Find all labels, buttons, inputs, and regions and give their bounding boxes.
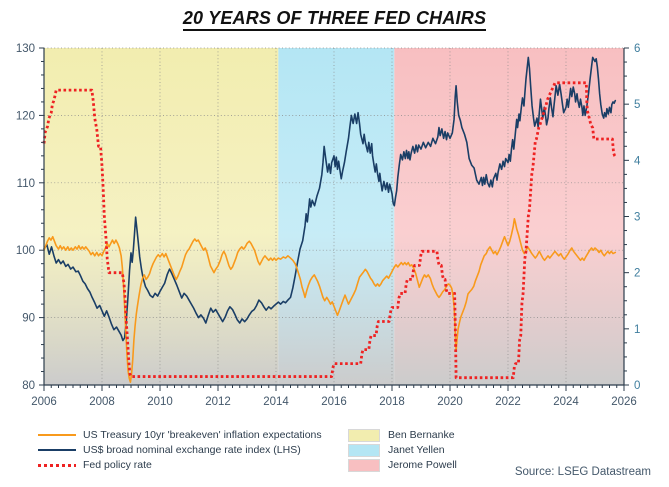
legend-swatch-solid-line [38, 449, 76, 451]
legend-item-series: Fed policy rate [38, 458, 322, 472]
band-janet-yellen [278, 48, 394, 385]
x-axis-tick-label: 2012 [205, 396, 231, 408]
legend-swatch-dotted-line [38, 464, 76, 467]
legend-item-band: Jerome Powell [348, 458, 457, 472]
legend-item-band: Ben Bernanke [348, 428, 457, 442]
x-axis-tick-label: 2008 [89, 396, 115, 408]
y-axis-left-tick-label: 130 [16, 43, 35, 55]
legend-label: Fed policy rate [83, 459, 152, 471]
legend-label: Jerome Powell [388, 459, 457, 471]
legend-swatch-band [348, 429, 380, 442]
y-axis-right-tick-label: 6 [634, 43, 640, 55]
y-axis-right-tick-label: 5 [634, 99, 640, 111]
legend-swatch-band [348, 459, 380, 472]
x-axis-tick-label: 2026 [611, 396, 637, 408]
legend-label: Janet Yellen [388, 444, 445, 456]
legend-item-band: Janet Yellen [348, 443, 457, 457]
chart-page: 20 YEARS OF THREE FED CHAIRS 80901001101… [0, 0, 669, 487]
y-axis-right-tick-label: 3 [634, 212, 640, 224]
y-axis-left-tick-label: 100 [16, 245, 35, 257]
x-axis-tick-label: 2018 [379, 396, 405, 408]
legend-item-series: US Treasury 10yr 'breakeven' inflation e… [38, 428, 322, 442]
legend-swatch-band [348, 444, 380, 457]
y-axis-left-tick-label: 80 [22, 380, 35, 392]
source-attribution: Source: LSEG Datastream [515, 466, 651, 478]
band-ben-bernanke [44, 48, 278, 385]
chart-plot-area: 8090100110120130012345620062008201020122… [0, 40, 669, 420]
y-axis-left-tick-label: 90 [22, 313, 35, 325]
band-jerome-powell [394, 48, 624, 385]
legend-label: US Treasury 10yr 'breakeven' inflation e… [83, 429, 322, 441]
x-axis-tick-label: 2020 [437, 396, 463, 408]
x-axis-tick-label: 2006 [31, 396, 57, 408]
chart-svg: 8090100110120130012345620062008201020122… [0, 40, 669, 420]
legend-series-column: US Treasury 10yr 'breakeven' inflation e… [38, 428, 322, 473]
chart-title-text: 20 YEARS OF THREE FED CHAIRS [183, 8, 486, 31]
legend-label: Ben Bernanke [388, 429, 455, 441]
y-axis-right-tick-label: 1 [634, 324, 640, 336]
x-axis-tick-label: 2014 [263, 396, 289, 408]
y-axis-right-tick-label: 4 [634, 155, 641, 167]
y-axis-right-tick-label: 0 [634, 380, 640, 392]
legend-label: US$ broad nominal exchange rate index (L… [83, 444, 301, 456]
x-axis-tick-label: 2024 [553, 396, 579, 408]
legend-item-series: US$ broad nominal exchange rate index (L… [38, 443, 322, 457]
x-axis-tick-label: 2010 [147, 396, 173, 408]
x-axis-tick-label: 2022 [495, 396, 521, 408]
page-title: 20 YEARS OF THREE FED CHAIRS [0, 8, 669, 29]
legend-swatch-solid-line [38, 434, 76, 436]
y-axis-left-tick-label: 120 [16, 110, 35, 122]
y-axis-left-tick-label: 110 [17, 178, 35, 190]
y-axis-right-tick-label: 2 [634, 268, 640, 280]
legend-bands-column: Ben BernankeJanet YellenJerome Powell [348, 428, 457, 473]
x-axis-tick-label: 2016 [321, 396, 347, 408]
